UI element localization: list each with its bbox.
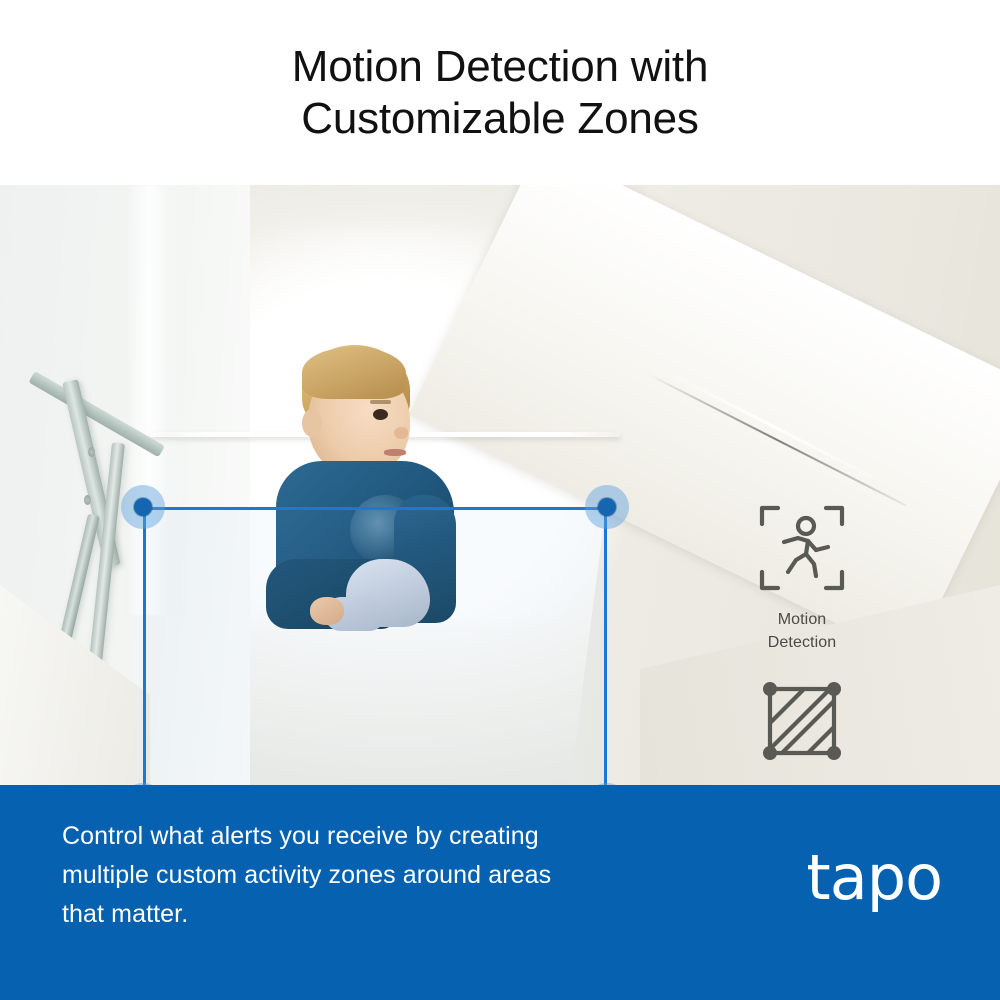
handle-dot <box>134 498 152 516</box>
handle-dot <box>598 498 616 516</box>
banner-line-3: that matter. <box>62 895 682 934</box>
rail-fixing-screw <box>88 447 95 457</box>
product-feature-card: Motion Detection with Customizable Zones <box>0 0 1000 1000</box>
zone-handle-top-left[interactable] <box>121 485 165 529</box>
banner-line-1: Control what alerts you receive by creat… <box>62 817 682 856</box>
banner-line-2: multiple custom activity zones around ar… <box>62 856 682 895</box>
feature-motion-detection: Motion Detection <box>702 500 902 654</box>
feature-activity-zones: Customizable Activity Zones <box>702 673 902 785</box>
motion-detection-icon <box>754 500 850 596</box>
activity-zone-rectangle[interactable] <box>143 507 607 785</box>
ear <box>302 409 322 437</box>
eye <box>373 409 388 420</box>
customizable-activity-zones-icon <box>754 673 850 769</box>
page-title: Motion Detection with Customizable Zones <box>292 41 708 145</box>
eyebrow <box>370 400 391 404</box>
mouth <box>384 449 406 456</box>
bottom-banner: Control what alerts you receive by creat… <box>0 785 1000 1000</box>
banner-description: Control what alerts you receive by creat… <box>62 817 682 933</box>
camera-photo: Motion Detection Customizable Activity Z… <box>0 185 1000 785</box>
nose <box>394 427 408 439</box>
feature-label: Motion Detection <box>702 608 902 654</box>
page-title-line-1: Motion Detection with <box>292 41 708 93</box>
header: Motion Detection with Customizable Zones <box>0 0 1000 185</box>
zone-handle-top-right[interactable] <box>585 485 629 529</box>
rail-fixing-screw <box>84 495 91 505</box>
feature-label-line-2: Detection <box>702 631 902 654</box>
tapo-logo: tapo <box>806 847 942 909</box>
page-title-line-2: Customizable Zones <box>292 93 708 145</box>
feature-label-line-1: Motion <box>702 608 902 631</box>
hair-fringe <box>302 347 406 399</box>
